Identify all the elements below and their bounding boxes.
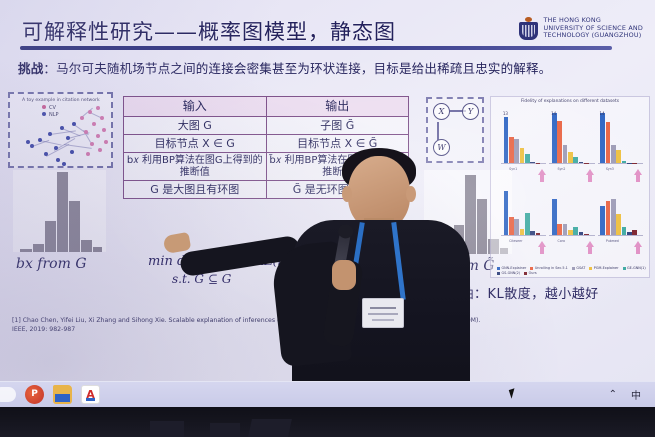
mic-hand: [332, 260, 356, 290]
powerpoint-icon[interactable]: P: [25, 385, 44, 404]
bar: [557, 224, 562, 236]
bar: [600, 113, 605, 163]
results-legend: GNN-ExplainerUnrolling in Sec.5.1GSATPGM…: [497, 266, 647, 275]
bar: [536, 163, 541, 164]
table-cell: 子图 G̃: [266, 117, 409, 135]
results-subchart: 13Syn1: [501, 107, 546, 173]
network-legend-nlp: NLP: [42, 112, 59, 119]
ear-right: [406, 186, 416, 202]
x-tick-label: Syn3: [606, 167, 614, 171]
results-subchart: 14Syn2: [549, 107, 594, 173]
bar: [530, 231, 535, 235]
bar: [632, 163, 637, 164]
bar: [627, 232, 632, 236]
table-cell: 大图 G: [124, 117, 267, 135]
legend-entry: GSAT: [572, 266, 585, 270]
bar: [579, 232, 584, 235]
bar-value-label: 14: [599, 111, 604, 116]
table-header-input: 输入: [124, 97, 267, 117]
left-chart-caption: b𝑥 from G: [16, 256, 87, 272]
bar: [606, 201, 611, 235]
citation-network-figure: A toy example in citation network CV NLP: [8, 92, 113, 168]
ime-indicator[interactable]: 中: [631, 387, 641, 402]
challenge-text: ：马尔可夫随机场节点之间的连接会密集甚至为环状连接，目标是给出稀疏且忠实的解释。: [43, 61, 551, 76]
bar: [514, 139, 519, 163]
folder-icon[interactable]: [53, 385, 72, 404]
highlight-arrow-icon: [634, 241, 642, 254]
graph-node-y: Y: [462, 103, 479, 120]
network-legend-cv: CV: [42, 105, 56, 112]
bar: [530, 162, 535, 163]
bar: [622, 227, 627, 235]
taskbar[interactable]: P A ⌃ 中: [0, 381, 655, 407]
bar: [632, 230, 637, 235]
presenter: [276, 148, 486, 407]
x-tick-label: Syn2: [558, 167, 566, 171]
bar: [573, 157, 578, 163]
challenge-line: 挑战：马尔可夫随机场节点之间的连接会密集甚至为环状连接，目标是给出稀疏且忠实的解…: [18, 58, 551, 77]
bar: [509, 137, 514, 163]
bar: [606, 122, 611, 164]
graph-node-x: X: [433, 103, 450, 120]
room-foreground: [0, 407, 655, 437]
bar: [525, 154, 530, 163]
bar: [568, 230, 573, 235]
bar: [584, 234, 589, 235]
network-caption: A toy example in citation network: [22, 98, 100, 103]
results-charts: Fidelity of explanations on different da…: [490, 96, 650, 278]
x-tick-label: Citeseer: [509, 239, 522, 243]
bx-from-g-chart: [13, 170, 106, 252]
acrobat-icon[interactable]: A: [81, 385, 100, 404]
ear-left: [342, 186, 352, 202]
results-subchart: 14Syn3: [598, 107, 643, 173]
bar: [600, 206, 605, 235]
bar: [504, 191, 509, 235]
histogram-bars: [13, 170, 106, 252]
chevron-up-icon[interactable]: ⌃: [609, 389, 617, 400]
legend-swatch: [623, 267, 626, 270]
legend-entry: Unrolling in Sec.5.1: [530, 266, 567, 270]
search-pill[interactable]: [0, 387, 16, 402]
bar: [514, 219, 519, 235]
presentation-photo: 可解释性研究——概率图模型，静态图 THE HONG KONG UNIVERSI…: [0, 0, 655, 437]
legend-entry: GS-GNN(2): [497, 271, 520, 275]
bar: [563, 224, 568, 235]
table-header-row: 输入 输出: [124, 97, 409, 117]
legend-swatch: [524, 272, 527, 275]
bar: [627, 163, 632, 164]
system-tray[interactable]: ⌃ 中: [609, 387, 655, 402]
bar: [509, 217, 514, 235]
shield-icon: [519, 17, 538, 40]
bar: [520, 229, 525, 235]
legend-entry: GE-GNN(1): [623, 266, 646, 270]
bar: [611, 199, 616, 236]
legend-swatch: [530, 267, 533, 270]
bar: [579, 162, 584, 163]
bar: [563, 145, 568, 163]
bar: [552, 199, 557, 235]
title-divider: [20, 46, 612, 50]
table-cell: 目标节点 X ∈ G: [124, 135, 267, 153]
x-tick-label: Cora: [558, 239, 565, 243]
bar: [616, 214, 621, 236]
results-subchart: Cora: [549, 179, 594, 245]
bar-value-label: 13: [503, 111, 508, 116]
bar: [520, 148, 525, 163]
table-cell: G 是大图且有环图: [124, 181, 267, 199]
logo-text: THE HONG KONG UNIVERSITY OF SCIENCE AND …: [543, 17, 643, 40]
bar: [557, 121, 562, 163]
highlight-arrow-icon: [586, 241, 594, 254]
x-tick-label: Pubmed: [606, 239, 619, 243]
hkust-logo: THE HONG KONG UNIVERSITY OF SCIENCE AND …: [519, 17, 643, 40]
page-title: 可解释性研究——概率图模型，静态图: [22, 16, 396, 46]
bar: [622, 161, 627, 163]
highlight-arrow-icon: [538, 241, 546, 254]
results-subchart: Citeseer: [501, 179, 546, 245]
table-cell: b𝑥 利用BP算法在图G上得到的推断值: [124, 153, 267, 181]
x-tick-label: Syn1: [509, 167, 517, 171]
table-row: 大图 G 子图 G̃: [124, 117, 409, 135]
bar: [525, 213, 530, 235]
bar: [584, 163, 589, 164]
legend-entry: GNN-Explainer: [497, 266, 526, 270]
bar-value-label: 14: [551, 111, 556, 116]
legend-swatch: [572, 267, 575, 270]
results-title: Fidelity of explanations on different da…: [491, 99, 649, 104]
legend-swatch: [589, 267, 592, 270]
bar: [568, 152, 573, 164]
legend-entry: PGM-Explainer: [589, 266, 618, 270]
results-subchart: Pubmed: [598, 179, 643, 245]
legend-entry: Ours: [524, 271, 536, 275]
name-badge: [362, 298, 404, 328]
bar: [616, 150, 621, 163]
results-grid: 13Syn114Syn214Syn3CiteseerCoraPubmed: [501, 107, 646, 251]
table-header-output: 输出: [266, 97, 409, 117]
bar: [536, 233, 541, 235]
bar: [611, 145, 616, 164]
bar: [504, 117, 509, 164]
bar: [573, 227, 578, 236]
legend-swatch: [497, 272, 500, 275]
challenge-label: 挑战: [18, 61, 43, 76]
bar: [552, 113, 557, 163]
legend-swatch: [497, 267, 500, 270]
